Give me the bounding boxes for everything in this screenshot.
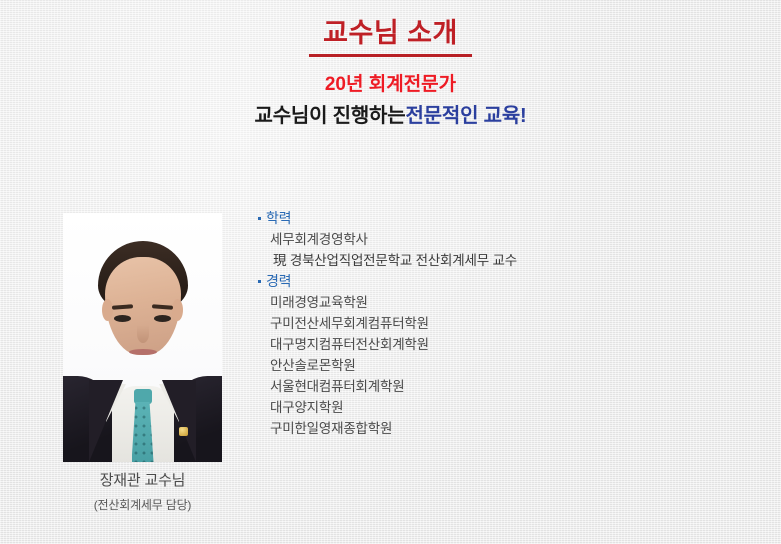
page-title: 교수님 소개 <box>0 0 781 49</box>
list-item: 구미전산세무회계컴퓨터학원 <box>258 313 718 334</box>
subtitle-tagline-plain: 교수님이 진행하는 <box>255 105 406 127</box>
eye-right <box>154 315 171 322</box>
list-item: 세무회계경영학사 <box>258 229 718 250</box>
bullet-dot-icon <box>258 280 261 283</box>
mouth <box>129 349 157 355</box>
lapel-left <box>89 380 123 462</box>
list-item: 안산솔로몬학원 <box>258 355 718 376</box>
ear-left <box>102 299 113 321</box>
list-item: 대구명지컴퓨터전산회계학원 <box>258 334 718 355</box>
ear-right <box>172 299 183 321</box>
professor-name: 장재관 교수님 <box>63 462 222 491</box>
profile-photo-block: 장재관 교수님 (전산회계세무 담당) <box>63 213 222 513</box>
nose <box>137 325 149 343</box>
neck <box>124 356 162 390</box>
subtitle-highlight: 20년 회계전문가 <box>0 57 781 97</box>
portrait-illustration <box>63 213 222 462</box>
profile-details: 학력 세무회계경영학사 現 경북산업직업전문학교 전산회계세무 교수 경력 미래… <box>258 208 718 439</box>
professor-subject: (전산회계세무 담당) <box>63 491 222 514</box>
necktie-knot <box>134 389 152 404</box>
list-item: 現 경북산업직업전문학교 전산회계세무 교수 <box>258 250 718 271</box>
lapel-right <box>162 380 196 462</box>
header: 교수님 소개 20년 회계전문가 교수님이 진행하는전문적인 교육! <box>0 0 781 129</box>
subtitle-tagline-accent: 전문적인 교육! <box>405 105 526 127</box>
subtitle-tagline: 교수님이 진행하는전문적인 교육! <box>0 97 781 129</box>
profile-photo <box>63 213 222 462</box>
bullet-dot-icon <box>258 217 261 220</box>
eye-left <box>114 315 131 322</box>
section-heading-career-label: 경력 <box>266 271 291 292</box>
list-item: 미래경영교육학원 <box>258 292 718 313</box>
list-item: 구미한일영재종합학원 <box>258 418 718 439</box>
list-item: 대구양지학원 <box>258 397 718 418</box>
section-heading-education: 학력 <box>258 208 718 229</box>
section-heading-career: 경력 <box>258 271 718 292</box>
section-heading-education-label: 학력 <box>266 208 291 229</box>
lapel-pin-icon <box>179 427 188 436</box>
list-item: 서울현대컴퓨터회계학원 <box>258 376 718 397</box>
